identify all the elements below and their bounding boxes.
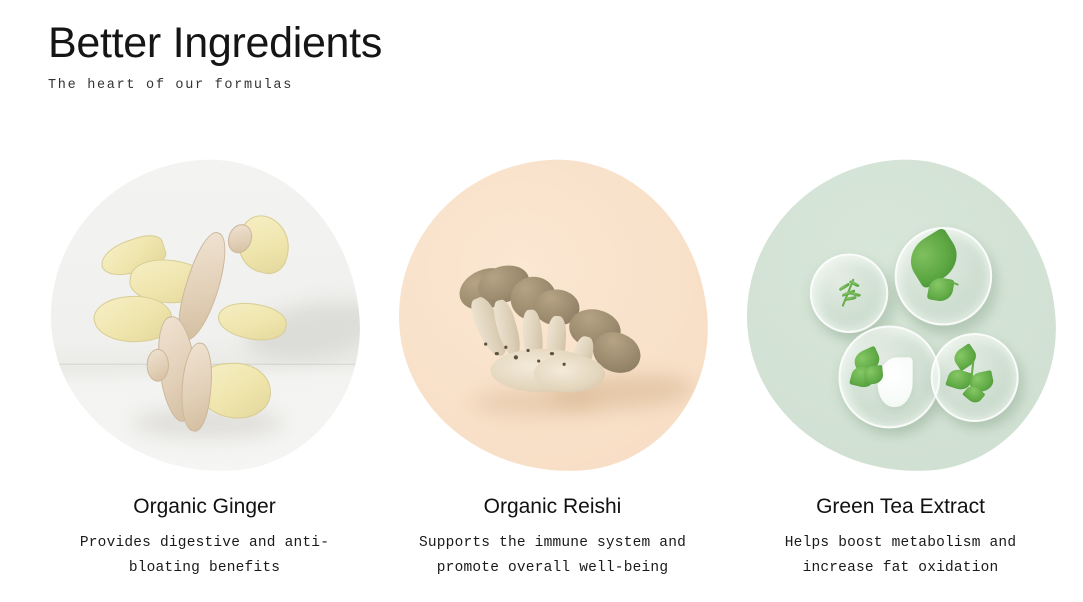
ingredient-card-list: Organic Ginger Provides digestive and an… bbox=[0, 160, 1083, 581]
ingredient-image-organic-reishi bbox=[388, 150, 717, 483]
petri-dish-mint-sprig bbox=[930, 333, 1018, 422]
mushroom-substrate bbox=[484, 342, 487, 345]
mushroom-substrate bbox=[536, 359, 539, 362]
ingredients-page: Better Ingredients The heart of our form… bbox=[0, 0, 1083, 602]
ingredient-card-organic-ginger[interactable]: Organic Ginger Provides digestive and an… bbox=[34, 160, 375, 581]
ingredient-image-green-tea-extract bbox=[736, 150, 1065, 483]
mint-leaf bbox=[950, 344, 979, 372]
ingredient-card-green-tea-extract[interactable]: Green Tea Extract Helps boost metabolism… bbox=[730, 160, 1071, 581]
ingredient-image-organic-ginger bbox=[40, 150, 369, 483]
page-title: Better Ingredients bbox=[48, 18, 748, 68]
petri-dish-basil-leaf bbox=[894, 227, 992, 326]
mushroom-substrate bbox=[504, 346, 507, 349]
rosemary-needle bbox=[844, 297, 856, 302]
ginger-root bbox=[146, 349, 169, 382]
ingredient-description: Provides digestive and anti-bloating ben… bbox=[55, 531, 355, 581]
page-header: Better Ingredients The heart of our form… bbox=[48, 18, 748, 95]
page-subtitle: The heart of our formulas bbox=[48, 77, 748, 95]
mushroom-substrate bbox=[562, 362, 565, 365]
ingredient-title: Organic Reishi bbox=[484, 494, 622, 520]
petri-dish-mint-cream bbox=[838, 326, 939, 429]
ingredient-title: Green Tea Extract bbox=[816, 494, 985, 520]
ingredient-description: Supports the immune system and promote o… bbox=[403, 531, 703, 581]
ingredient-title: Organic Ginger bbox=[133, 494, 275, 520]
ingredient-card-organic-reishi[interactable]: Organic Reishi Supports the immune syste… bbox=[382, 160, 723, 581]
mushroom-floor-shadow bbox=[471, 389, 602, 415]
cream-swirl bbox=[877, 358, 912, 407]
petri-dish-rosemary bbox=[809, 253, 887, 332]
ingredient-description: Helps boost metabolism and increase fat … bbox=[751, 531, 1051, 581]
mushroom-base bbox=[533, 356, 605, 392]
